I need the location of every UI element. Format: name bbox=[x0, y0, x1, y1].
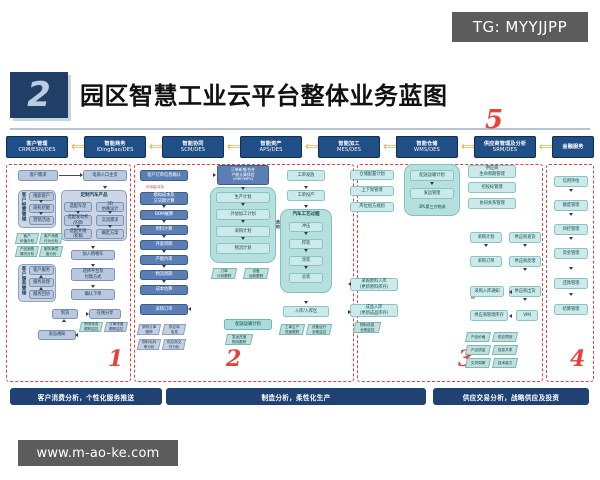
node-supplier-feedback[interactable]: 供应商反馈 bbox=[509, 256, 541, 267]
node-shelf-management[interactable]: 上下架管理 bbox=[350, 186, 394, 196]
node-add-to-cart[interactable]: 加入购物车 bbox=[71, 250, 115, 260]
node-purchase-order-srm[interactable]: 采购订单 bbox=[470, 256, 502, 267]
tag-banner: TG: MYYJJPP bbox=[452, 12, 588, 42]
node-welding[interactable]: 焊装 bbox=[289, 239, 323, 249]
node-purchase-inbound-notice[interactable]: 采购入库通知 bbox=[470, 286, 504, 297]
node-kitting-cycle[interactable]: 齐套周期 bbox=[140, 240, 188, 250]
column-header-subtitle: WMS/DES bbox=[414, 147, 440, 154]
label-quality-check-mes: 质检 bbox=[275, 220, 281, 229]
node-product-sales-analysis[interactable]: 产品销售 情况分析 bbox=[15, 246, 39, 257]
node-finished-goods-inbound[interactable]: 成品入库 (更新成品库存) bbox=[350, 304, 398, 317]
node-supply-forecast[interactable]: 供应预测 bbox=[492, 332, 518, 342]
region-number-5: 5 bbox=[485, 105, 503, 135]
banner-manufacturing-analysis: 制造分析，柔性化生产 bbox=[166, 388, 426, 405]
node-collaboration-relationship[interactable]: 协同关系管理 bbox=[468, 198, 516, 209]
node-material-inbound[interactable]: 采购原料入库 (更新原料库存) bbox=[350, 278, 398, 291]
column-header-row: 客户管理 CRM/ESN/DES ⟺ 智能商务 IDingBao/DES ⟺ 智… bbox=[4, 134, 596, 160]
node-outsourcing-plan[interactable]: 外协加工计划 bbox=[216, 209, 270, 220]
node-marketing-activity[interactable]: 营销活动 bbox=[29, 216, 54, 225]
banner-customer-analysis: 客户消费分析，个性化服务推送 bbox=[10, 388, 162, 405]
node-order-progress-tracking[interactable]: 订单进度 跟踪监控 bbox=[104, 322, 128, 332]
edge-label-available-cost: 可用量/成本 bbox=[146, 184, 164, 189]
node-vendor-managed-inventory-label[interactable]: 供应商管理库存 bbox=[470, 310, 508, 321]
node-assembly[interactable]: 总装 bbox=[289, 273, 323, 283]
column-header-subtitle: SRM/DES bbox=[493, 147, 517, 154]
column-header-subtitle: APS/DES bbox=[260, 147, 283, 154]
node-order-info-confirm[interactable]: 客户订单信息确认 bbox=[140, 170, 188, 181]
column-header-title: 智能物流 bbox=[396, 136, 398, 138]
node-equipment-full-monitoring[interactable]: 设备运行 全程监控 bbox=[306, 324, 332, 335]
column-header-mes[interactable]: 智能加工 MES/DES bbox=[318, 136, 380, 158]
node-logistics-cycle[interactable]: 物流周期 bbox=[140, 270, 188, 280]
column-header-srm[interactable]: 供应商管理及分析 SRM/DES bbox=[474, 136, 536, 158]
column-header-subtitle: CRM/ESN/DES bbox=[18, 147, 55, 154]
node-credit-assessment[interactable]: 信用评估 bbox=[554, 176, 588, 187]
node-supplier-lifecycle[interactable]: 供应商 生命周期管理 bbox=[468, 165, 516, 178]
label-3pl: 3PL第三方物流 bbox=[404, 202, 460, 211]
node-ecommerce-portal[interactable]: 电商入口主页 bbox=[83, 170, 127, 181]
node-supplier-check[interactable]: 供应商查货 bbox=[509, 232, 541, 243]
node-workorder-start[interactable]: 工单投产 bbox=[287, 190, 325, 201]
node-fund-management[interactable]: 资金管理 bbox=[554, 248, 588, 259]
node-arrival[interactable]: 到货 bbox=[52, 309, 78, 319]
group-custom-car-product-label: 定制汽车产品 bbox=[61, 191, 127, 200]
node-bom-explosion[interactable]: BOM展算 bbox=[140, 210, 188, 220]
node-slot-planning[interactable]: 库位组方规划 bbox=[350, 202, 394, 212]
node-repayment-management[interactable]: 还款管理 bbox=[554, 278, 588, 289]
node-product-price[interactable]: 产品价格 bbox=[465, 332, 491, 342]
node-cost-leadtime-calc[interactable]: 模拟成本及 交货期计算 bbox=[140, 192, 188, 205]
node-online-share[interactable]: 在线分享 bbox=[89, 309, 121, 319]
node-select-payment[interactable]: 选择平台及 付款方式 bbox=[71, 268, 115, 281]
column-header-aps[interactable]: 智能资产 APS/DES bbox=[240, 136, 302, 158]
node-product-quality[interactable]: 产品质量 bbox=[465, 345, 491, 355]
node-info-sharing[interactable]: 信息共享 bbox=[492, 345, 518, 355]
node-customer-value-analysis[interactable]: 客户 价值分析 bbox=[15, 233, 39, 244]
node-confirm-order[interactable]: 确认下单 bbox=[71, 289, 115, 300]
node-stamping[interactable]: 冲压 bbox=[289, 222, 323, 232]
column-header-subtitle: IDingBao/DES bbox=[97, 147, 134, 154]
node-technical-capability[interactable]: 技术能力 bbox=[492, 358, 518, 368]
group-customer-operation-label: 客户经营管理 bbox=[20, 192, 26, 226]
node-limit-management[interactable]: 额度管理 bbox=[554, 200, 588, 211]
slide-number-badge: 2 bbox=[10, 72, 68, 118]
node-shipping-notice[interactable]: 发运通知 bbox=[38, 330, 76, 340]
column-header-subtitle: MES/DES bbox=[337, 147, 361, 154]
node-shipping-management[interactable]: 发运管理 bbox=[410, 188, 454, 199]
column-header-crm[interactable]: 客户管理 CRM/ESN/DES bbox=[6, 136, 68, 158]
node-po-tracking[interactable]: 采购订单 跟踪 bbox=[137, 324, 161, 335]
column-header-scm[interactable]: 智能协同 SCM/DES bbox=[162, 136, 224, 158]
node-logistics-plan[interactable]: 物流计划 bbox=[216, 243, 270, 254]
node-warehouse-in[interactable]: 入库/入库区 bbox=[283, 306, 329, 317]
node-bidding-management[interactable]: 招投标管理 bbox=[468, 182, 516, 193]
node-material-calc[interactable]: 用料计算 bbox=[140, 225, 188, 235]
node-select-exterior[interactable]: 选配外观 /轮毂 bbox=[64, 229, 92, 239]
node-customer-demand[interactable]: 客户需求 bbox=[18, 170, 58, 181]
node-risk-management[interactable]: 风控管理 bbox=[554, 224, 588, 235]
node-capacity-constraint[interactable]: 产能约束 bbox=[140, 255, 188, 265]
node-order-plan-tracking[interactable]: 订单 计划跟踪 bbox=[211, 268, 237, 279]
node-delivery-transport-plan-lower[interactable]: 配送运输计划 bbox=[224, 319, 272, 330]
column-header-tms: 智能物流 TMS/DES bbox=[396, 136, 398, 138]
node-purchase-plan-aps[interactable]: 采购计划 bbox=[216, 226, 270, 237]
column-header-subtitle: SCM/DES bbox=[181, 147, 205, 154]
node-supplier-delivery-analysis[interactable]: 供应商交 付分析 bbox=[162, 339, 186, 350]
node-supplier-shipment[interactable]: 供应商出货 bbox=[509, 286, 541, 297]
node-logistics-tracking[interactable]: 物流信息 跟踪监控 bbox=[79, 322, 103, 332]
node-material-margin-analysis[interactable]: 物料毛利 率分析 bbox=[137, 339, 161, 350]
node-mrp-mps[interactable]: 订单新增/合并 产能计算排程 (MRP/MPS) bbox=[217, 165, 269, 185]
node-purchase-order-scm[interactable]: 采购订单 bbox=[140, 304, 188, 315]
node-customer-service[interactable]: 客户服务 bbox=[29, 266, 54, 275]
blueprint-diagram: 客户管理 CRM/ESN/DES ⟺ 智能商务 IDingBao/DES ⟺ 智… bbox=[4, 134, 596, 406]
node-workorder-progress-tracking[interactable]: 工单生产 进度跟踪 bbox=[279, 324, 305, 335]
node-settlement-management[interactable]: 结算管理 bbox=[554, 304, 588, 315]
node-purchase-plan-srm[interactable]: 采购计划 bbox=[470, 232, 502, 243]
group-customer-service-label: 客户服务管理 bbox=[20, 266, 26, 300]
group-car-process-label: 汽车工艺过程 bbox=[280, 210, 332, 219]
node-consumption-behavior-analysis[interactable]: 客户消费 行为分析 bbox=[39, 233, 63, 244]
node-production-plan[interactable]: 生产计划 bbox=[216, 192, 270, 203]
region-number-1: 1 bbox=[108, 346, 123, 372]
banner-supply-analysis: 供应交易分析，战略供应及投资 bbox=[433, 388, 589, 405]
node-service-followup[interactable]: 服务回访 bbox=[29, 290, 54, 299]
page-title: 园区智慧工业云平台整体业务蓝图 bbox=[80, 76, 448, 111]
node-delivery-transport-plan[interactable]: 配送运输计划 bbox=[410, 170, 454, 181]
region-number-4: 4 bbox=[570, 346, 585, 372]
watermark: www.m-ao-ke.com bbox=[18, 440, 178, 466]
node-painting[interactable]: 涂装 bbox=[289, 256, 323, 266]
node-service-satisfaction-analysis[interactable]: 服务满意 度分析 bbox=[39, 246, 63, 257]
node-material-info-monitoring[interactable]: 物料信息 全程监控 bbox=[353, 322, 381, 333]
column-header-idingbao[interactable]: 智能商务 IDingBao/DES bbox=[84, 136, 146, 158]
node-confirm-plan[interactable]: 确定方案 bbox=[96, 229, 124, 239]
column-header-wms[interactable]: 智能仓储 WMS/DES bbox=[396, 136, 458, 158]
node-vmi[interactable]: VMI bbox=[516, 310, 538, 321]
node-cost-estimate[interactable]: 成本估算 bbox=[140, 285, 188, 295]
region-number-2: 2 bbox=[226, 346, 241, 372]
column-header-finance[interactable]: 金融服务 bbox=[552, 136, 594, 158]
node-supplier-info[interactable]: 供应商 信息 bbox=[162, 324, 186, 335]
node-warehouse-config-plan[interactable]: 仓储配置计划 bbox=[350, 170, 394, 180]
node-shipping-progress-tracking[interactable]: 发运进度 物流跟踪 bbox=[225, 334, 253, 345]
column-header-title: 金融服务 bbox=[562, 144, 583, 151]
node-equipment-tracking[interactable]: 设备 运转跟踪 bbox=[243, 268, 269, 279]
node-service-handling[interactable]: 服务处理 bbox=[29, 278, 54, 287]
node-delivery-cycle[interactable]: 交货周期 bbox=[465, 358, 491, 368]
node-workorder-issue[interactable]: 工单发放 bbox=[287, 170, 325, 181]
